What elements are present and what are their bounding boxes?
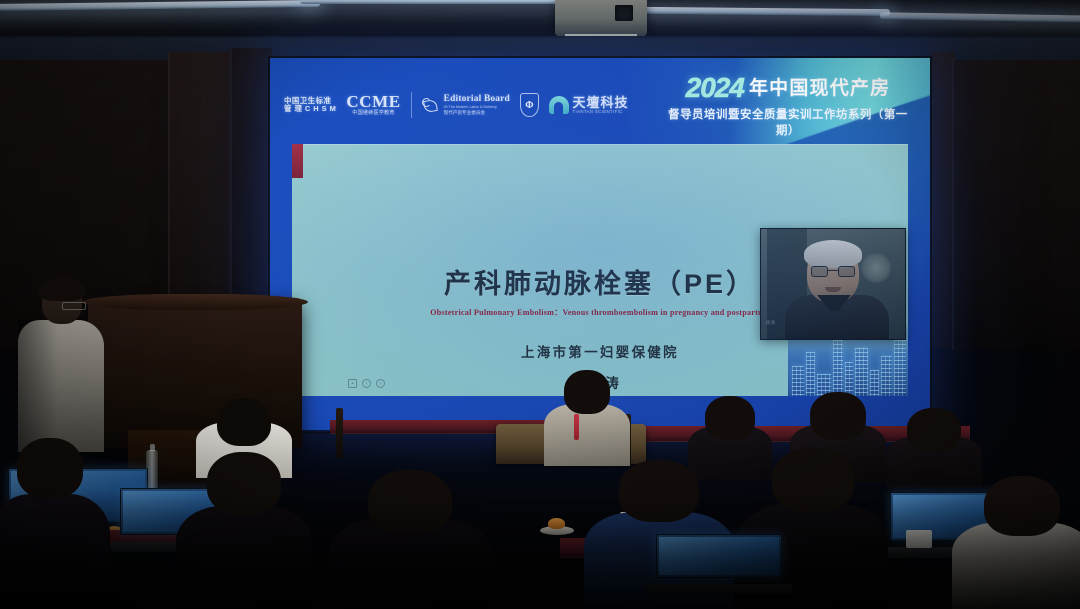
ccme-logo: CCME 中国继续医学教育 [346,93,400,116]
ccme-logo-wordmark: CCME [346,93,400,110]
pastry [548,518,565,529]
shield-logo-glyph: Φ [525,100,533,111]
shield-logo: Φ [520,93,539,117]
remote-speaker-caption: 段涛 [766,320,775,326]
audience-member [0,438,110,609]
remote-speaker-video[interactable]: 段涛 [760,228,906,340]
slide-logo-strip: 中国卫生标准 管 理 C H S M CCME 中国继续医学教育 Editori… [284,84,684,126]
editorial-board-logo-line2: Of The Modern Labor & Delivery [444,105,510,109]
event-name: 年中国现代产房 [749,79,890,98]
wall-seam [952,58,954,350]
projector-lens-icon [615,5,633,21]
glasses-icon [62,302,86,310]
wall-lamp-icon [861,253,891,283]
slide-next-icon[interactable]: › [376,379,385,388]
slide-pointer-tool-icon[interactable]: ▪ [348,379,357,388]
wall-panel [952,60,1080,350]
tiantan-tech-logo-en: TIANTAN SCIENTIFIC [572,110,628,115]
presenter-at-podium [18,280,104,450]
ccme-logo-subtitle: 中国继续医学教育 [352,111,394,116]
slide-show-controls[interactable]: ▪ ‹ › [348,379,385,388]
glasses-icon [811,266,855,277]
audience-member [544,370,630,466]
logo-divider [411,92,412,118]
tiantan-tech-logo-cn: 天壇科技 [572,96,628,110]
event-title-block: 2024 年中国现代产房 督导员培训暨安全质量实训工作坊系列（第一期） [662,74,914,138]
laptop[interactable] [656,534,782,594]
heart-swirl-icon [422,96,441,115]
chsm-logo-line2: 管 理 C H S M [284,105,336,113]
lanyard [574,414,579,440]
conference-hall-photo: 中国卫生标准 管 理 C H S M CCME 中国继续医学教育 Editori… [0,0,1080,609]
tiantan-tech-logo: 天壇科技 TIANTAN SCIENTIFIC [549,96,629,114]
ceiling-projector [555,0,647,36]
name-badge [906,530,932,548]
event-subtitle: 督导员培训暨安全质量实训工作坊系列（第一期） [662,106,914,138]
wall-panel [930,52,954,348]
chair-post [336,408,343,458]
audience-member [176,452,312,609]
chsm-logo: 中国卫生标准 管 理 C H S M [284,97,336,113]
slide-previous-icon[interactable]: ‹ [362,379,371,388]
slide-accent-bar [292,144,303,178]
editorial-board-logo: Editorial Board Of The Modern Labor & De… [422,94,510,115]
event-year: 2024 [686,74,744,102]
editorial-board-logo-line3: 现代产房专业委员会 [444,110,510,115]
arch-icon [549,96,569,114]
editorial-board-logo-title: Editorial Board [444,94,510,105]
audience-member [330,470,490,609]
audience-member [952,476,1080,609]
lectern-top [82,294,308,310]
